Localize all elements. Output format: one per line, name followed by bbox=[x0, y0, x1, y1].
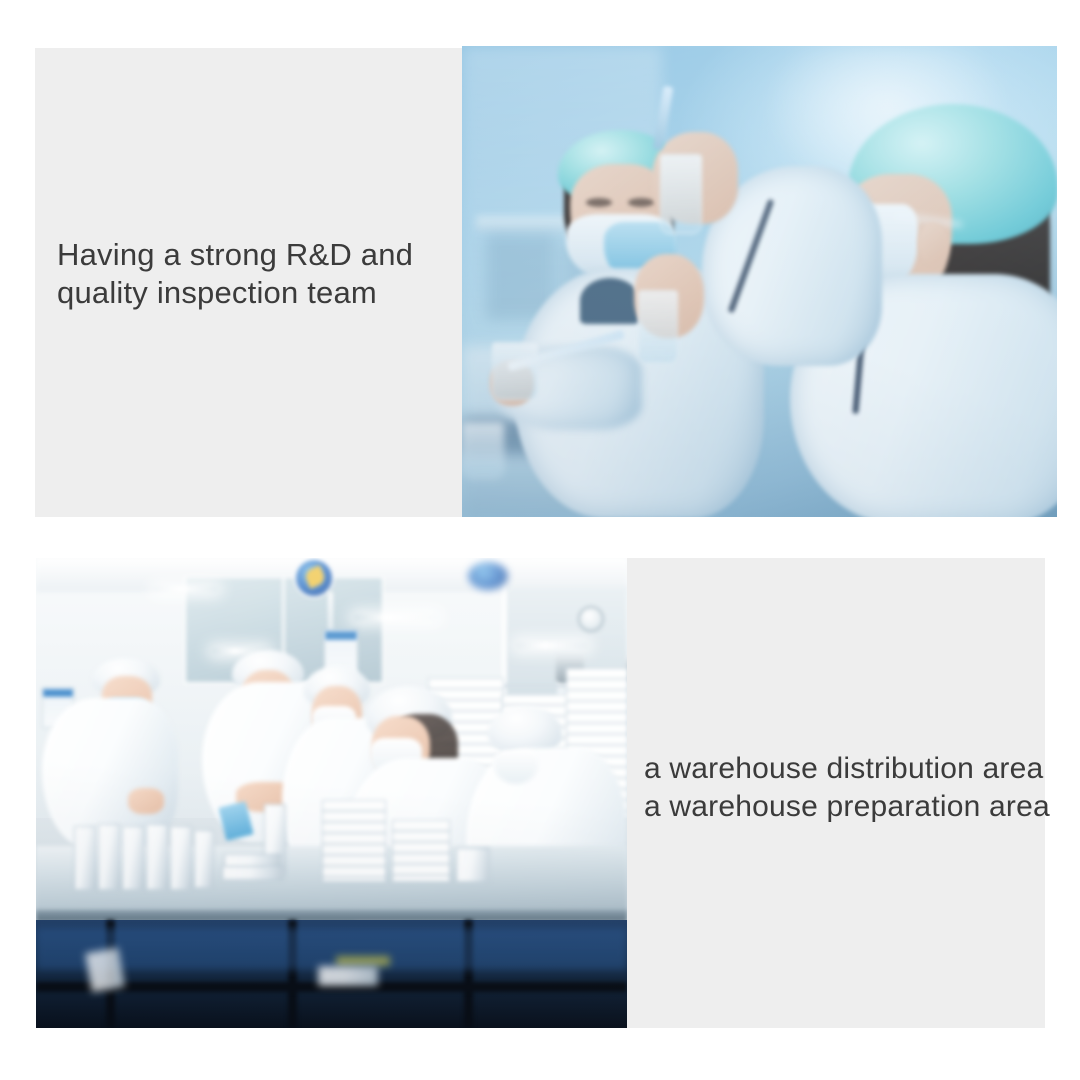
section-warehouse-areas: a warehouse distribution area a warehous… bbox=[36, 558, 1045, 1028]
warehouse-scene bbox=[36, 558, 627, 1028]
laboratory-technicians-photo bbox=[462, 46, 1057, 517]
caption-rnd-quality: Having a strong R&D and quality inspecti… bbox=[57, 236, 457, 312]
lab-scene bbox=[462, 46, 1057, 517]
section-rnd-quality: Having a strong R&D and quality inspecti… bbox=[35, 46, 1057, 517]
caption-warehouse-areas: a warehouse distribution area a warehous… bbox=[644, 750, 1064, 826]
warehouse-haze bbox=[36, 558, 627, 1028]
caption-line-1: a warehouse distribution area bbox=[644, 750, 1064, 788]
caption-line-2: quality inspection team bbox=[57, 274, 457, 312]
lab-haze bbox=[462, 46, 1057, 517]
page-root: Having a strong R&D and quality inspecti… bbox=[0, 0, 1080, 1080]
warehouse-packing-photo bbox=[36, 558, 627, 1028]
caption-line-2: a warehouse preparation area bbox=[644, 788, 1064, 826]
caption-line-1: Having a strong R&D and bbox=[57, 236, 457, 274]
